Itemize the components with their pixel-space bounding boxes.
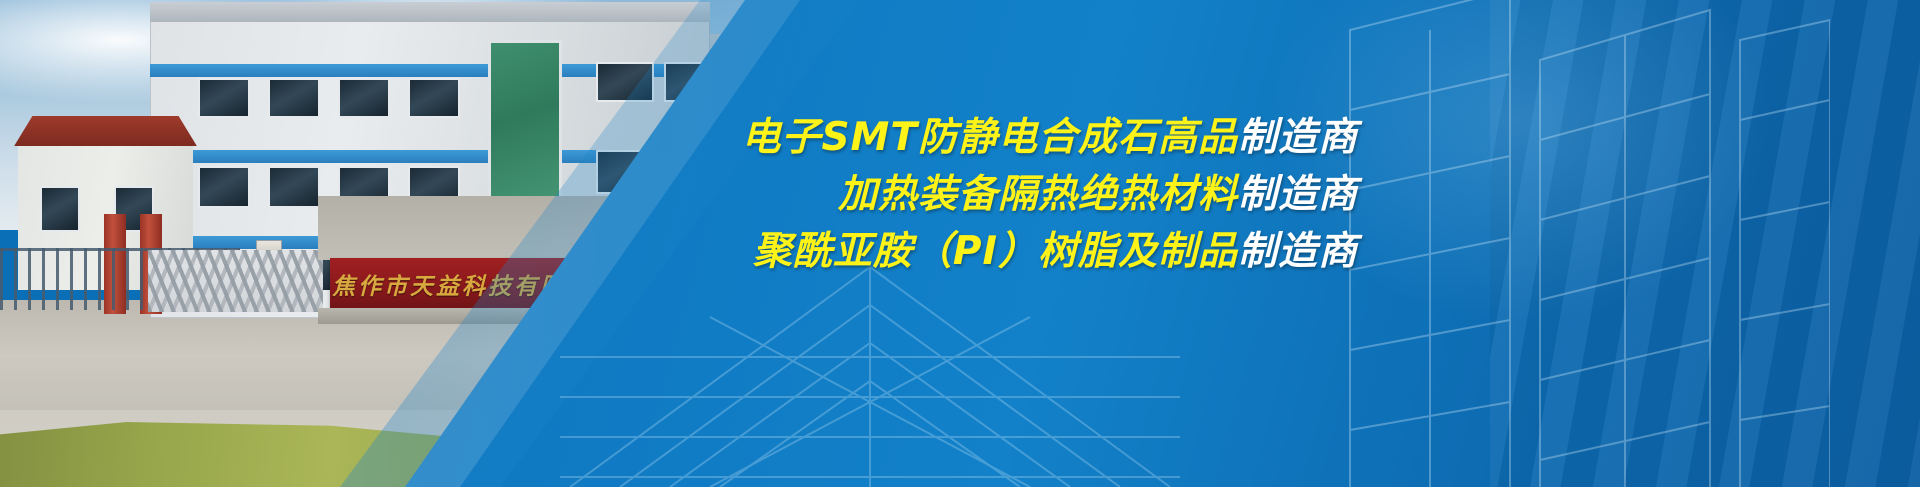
headline-line-2-tail: 制造商 bbox=[1238, 172, 1358, 217]
headline-line-3-tail: 制造商 bbox=[1238, 229, 1358, 274]
headline-group: 电子SMT防静电合成石高品制造商 加热装备隔热绝热材料制造商 聚酰亚胺（PI）树… bbox=[0, 118, 1450, 271]
headline-line-1: 电子SMT防静电合成石高品制造商 bbox=[0, 118, 1358, 157]
hero-banner: 焦作市天益科技有限公司 bbox=[0, 0, 1920, 487]
headline-line-3: 聚酰亚胺（PI）树脂及制品制造商 bbox=[0, 232, 1358, 271]
headline-line-1-highlight: 电子SMT防静电合成石高品 bbox=[741, 115, 1238, 160]
headline-line-1-tail: 制造商 bbox=[1238, 115, 1358, 160]
space-frame-wireframe-left bbox=[560, 257, 1180, 487]
headline-line-3-highlight: 聚酰亚胺（PI）树脂及制品 bbox=[753, 229, 1238, 274]
headline-line-2-highlight: 加热装备隔热绝热材料 bbox=[838, 172, 1238, 217]
headline-line-2: 加热装备隔热绝热材料制造商 bbox=[0, 175, 1358, 214]
